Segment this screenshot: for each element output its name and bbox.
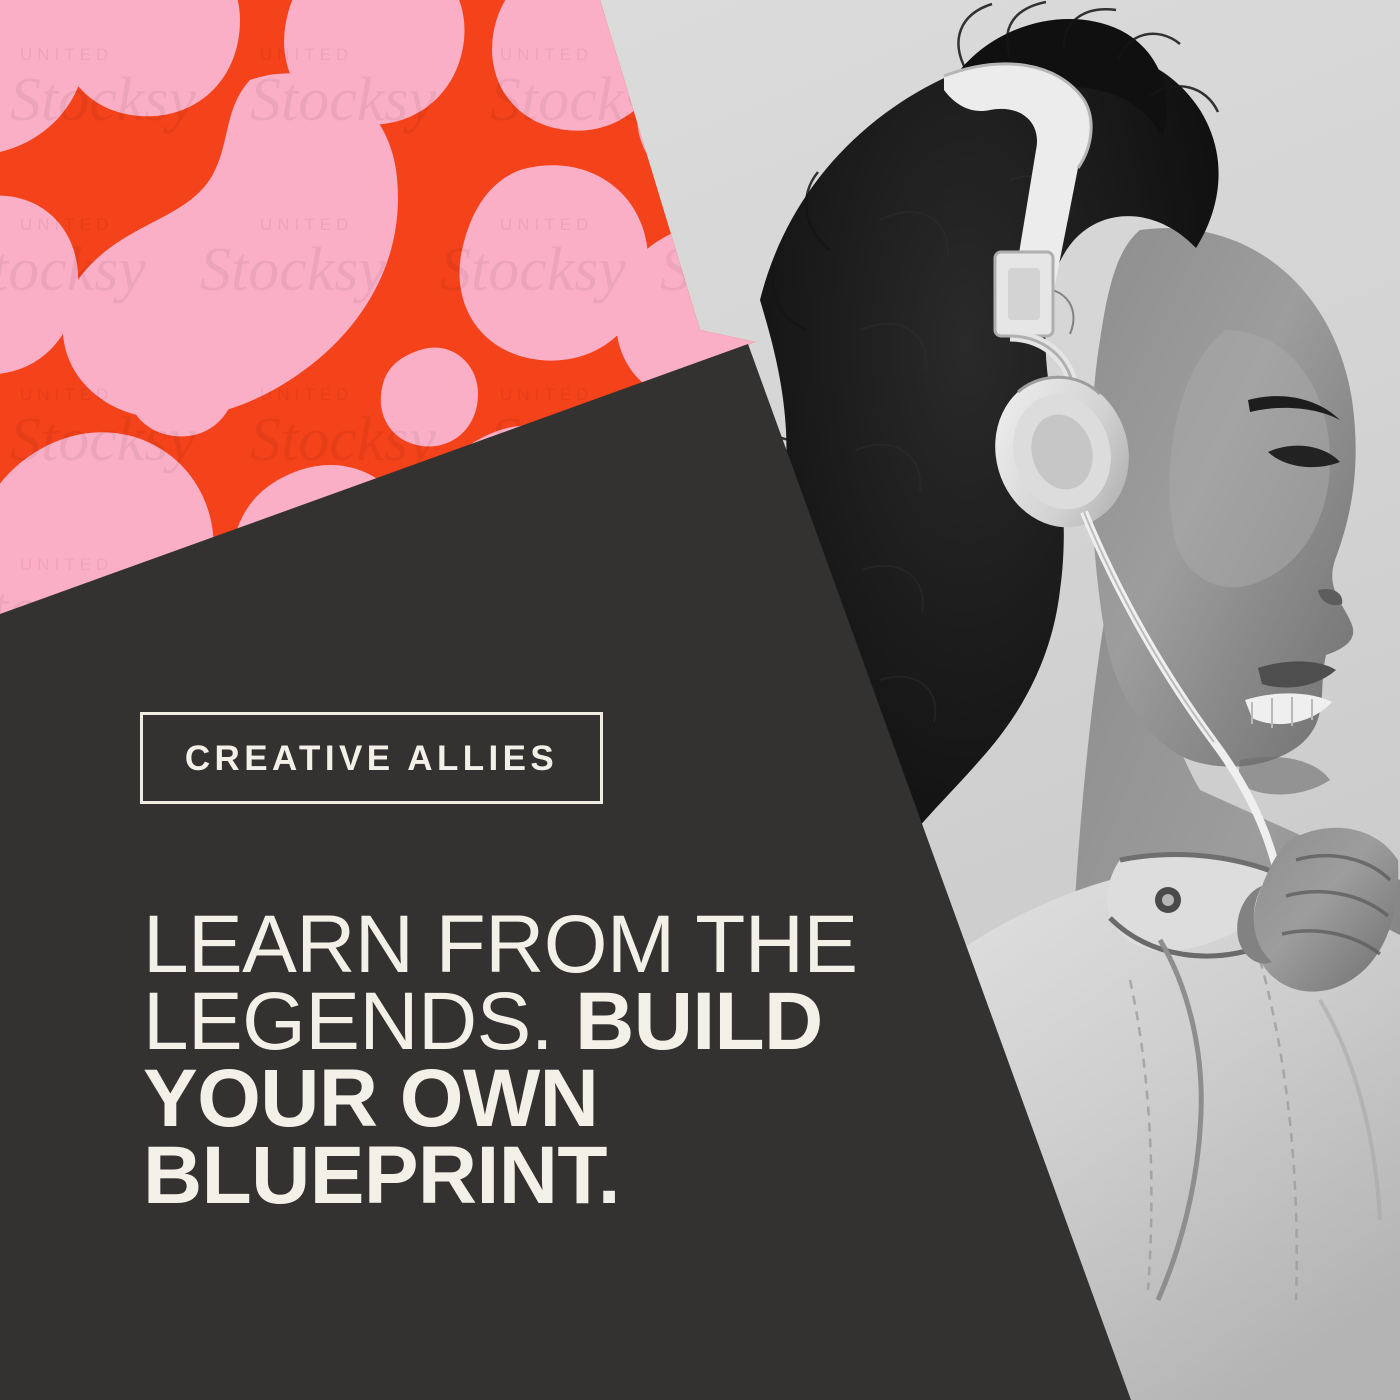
svg-text:Stocksy: Stocksy	[10, 66, 196, 134]
svg-text:Stocksy: Stocksy	[10, 406, 196, 474]
brand-badge: CREATIVE ALLIES	[140, 712, 603, 804]
svg-text:Stocksy: Stocksy	[250, 406, 436, 474]
svg-text:UNITED: UNITED	[260, 385, 353, 404]
poster-canvas: Stocksy Stocksy Stocksy Stocksy Stocksy …	[0, 0, 1400, 1400]
svg-text:UNITED: UNITED	[260, 45, 353, 64]
headline-line-2-bold-text: BUILD	[575, 976, 823, 1067]
svg-text:UNITED: UNITED	[20, 215, 113, 234]
svg-text:UNITED: UNITED	[500, 385, 593, 404]
brand-badge-label: CREATIVE ALLIES	[185, 741, 558, 776]
svg-text:Stocksy: Stocksy	[250, 66, 436, 134]
headline-line-1: LEARN FROM THE	[143, 906, 863, 983]
svg-text:Stocksy: Stocksy	[0, 236, 146, 304]
svg-text:Stocksy: Stocksy	[440, 236, 626, 304]
svg-text:UNITED: UNITED	[500, 45, 593, 64]
headline: LEARN FROM THE LEGENDS. BUILD YOUR OWN B…	[143, 906, 863, 1214]
svg-text:UNITED: UNITED	[260, 215, 353, 234]
svg-text:UNITED: UNITED	[20, 45, 113, 64]
svg-text:Stocksy: Stocksy	[200, 236, 386, 304]
headline-line-2: LEGENDS. BUILD	[143, 983, 863, 1060]
headline-line-4-text: BLUEPRINT.	[143, 1130, 620, 1221]
headline-line-4: BLUEPRINT.	[143, 1137, 863, 1214]
svg-text:UNITED: UNITED	[20, 555, 113, 574]
headline-line-3: YOUR OWN	[143, 1060, 863, 1137]
svg-text:UNITED: UNITED	[20, 385, 113, 404]
svg-text:UNITED: UNITED	[500, 215, 593, 234]
